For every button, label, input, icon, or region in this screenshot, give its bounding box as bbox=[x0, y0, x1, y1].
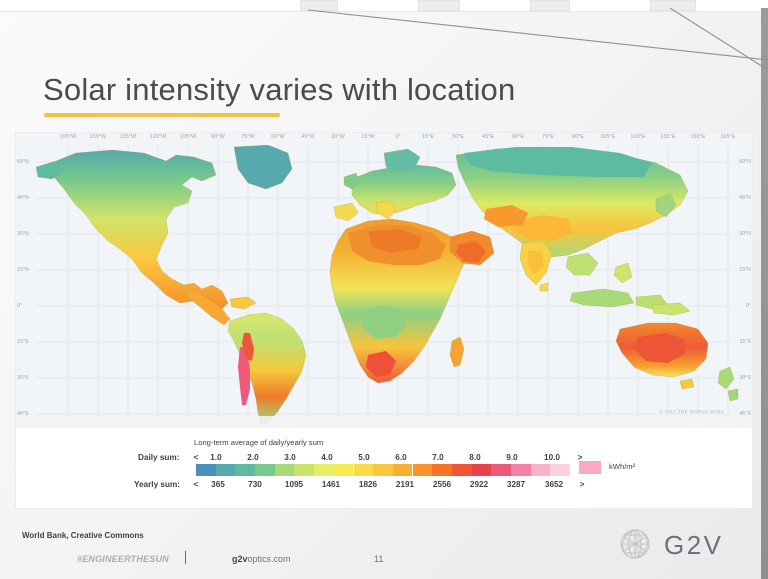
legend-daily-tick: 6.0 bbox=[395, 453, 406, 462]
legend-yearly-tick: 730 bbox=[248, 480, 262, 489]
legend-yearly-tick: 1095 bbox=[285, 480, 303, 489]
legend-daily-label: Daily sum: bbox=[138, 453, 179, 462]
legend-yearly-ticks: < 365 730 1095 1461 1826 2191 2556 2922 … bbox=[184, 480, 594, 492]
top-thumbnail-strip bbox=[300, 0, 760, 9]
website-suffix: optics.com bbox=[248, 554, 291, 564]
legend-yearly-tick: 1826 bbox=[359, 480, 377, 489]
legend-yearly-tick: 365 bbox=[211, 480, 225, 489]
legend-less-than-daily: < bbox=[194, 453, 199, 462]
map-latitude-axis-right: 60°N45°N 30°N15°N 0°15°S 30°S45°S bbox=[731, 133, 751, 428]
right-edge-bar bbox=[761, 8, 768, 579]
legend-daily-tick: 9.0 bbox=[506, 453, 517, 462]
legend-daily-tick: 7.0 bbox=[432, 453, 443, 462]
legend-daily-tick: 5.0 bbox=[358, 453, 369, 462]
map-latitude-axis-left: 60°N45°N 30°N15°N 0°15°S 30°S45°S bbox=[17, 133, 37, 428]
legend-yearly-tick: 2191 bbox=[396, 480, 414, 489]
legend-yearly-tick: 3652 bbox=[545, 480, 563, 489]
website-text[interactable]: g2voptics.com bbox=[232, 554, 291, 564]
legend-daily-tick: 3.0 bbox=[284, 453, 295, 462]
map-legend: Long-term average of daily/yearly sum Da… bbox=[16, 428, 752, 508]
title-underline-rule bbox=[44, 113, 280, 117]
legend-daily-tick: 4.0 bbox=[321, 453, 332, 462]
legend-less-than-yearly: < bbox=[194, 480, 199, 489]
legend-header: Long-term average of daily/yearly sum bbox=[194, 438, 323, 447]
legend-yearly-tick: 1461 bbox=[322, 480, 340, 489]
presentation-slide: Solar intensity varies with location bbox=[0, 0, 768, 579]
solar-irradiation-figure: 165°W150°W 135°W120°W 105°W90°W 75°W60°W… bbox=[16, 133, 752, 508]
legend-unit-swatch bbox=[579, 461, 601, 474]
legend-yearly-tick: 3287 bbox=[507, 480, 525, 489]
legend-daily-tick: 1.0 bbox=[210, 453, 221, 462]
text-caret bbox=[185, 551, 186, 564]
hashtag-text: #ENGINEERTHESUN bbox=[77, 554, 169, 564]
legend-yearly-label: Yearly sum: bbox=[134, 480, 180, 489]
legend-yearly-tick: 2556 bbox=[433, 480, 451, 489]
page-number: 11 bbox=[374, 554, 383, 564]
slide-title: Solar intensity varies with location bbox=[43, 72, 515, 108]
world-map-heatmap: 165°W150°W 135°W120°W 105°W90°W 75°W60°W… bbox=[16, 133, 752, 428]
geodesic-sphere-icon bbox=[617, 526, 653, 562]
legend-daily-tick: 10.0 bbox=[544, 453, 560, 462]
decorative-diagonal-lines bbox=[300, 8, 768, 70]
legend-units: kWh/m² bbox=[609, 462, 635, 471]
source-attribution: World Bank, Creative Commons bbox=[22, 531, 144, 540]
map-svg bbox=[16, 133, 752, 428]
legend-yearly-tick: 2922 bbox=[470, 480, 488, 489]
map-copyright: © 2017 THE WORLD BANK bbox=[659, 409, 724, 414]
map-canvas: 165°W150°W 135°W120°W 105°W90°W 75°W60°W… bbox=[16, 133, 752, 428]
legend-daily-tick: 8.0 bbox=[469, 453, 480, 462]
legend-daily-tick: 2.0 bbox=[247, 453, 258, 462]
map-longitude-axis-top: 165°W150°W 135°W120°W 105°W90°W 75°W60°W… bbox=[16, 134, 752, 147]
legend-greater-than-yearly: > bbox=[580, 480, 585, 489]
legend-colorbar bbox=[196, 464, 570, 476]
brand-logo-text: G2V bbox=[664, 530, 724, 561]
website-prefix: g2v bbox=[232, 554, 248, 564]
